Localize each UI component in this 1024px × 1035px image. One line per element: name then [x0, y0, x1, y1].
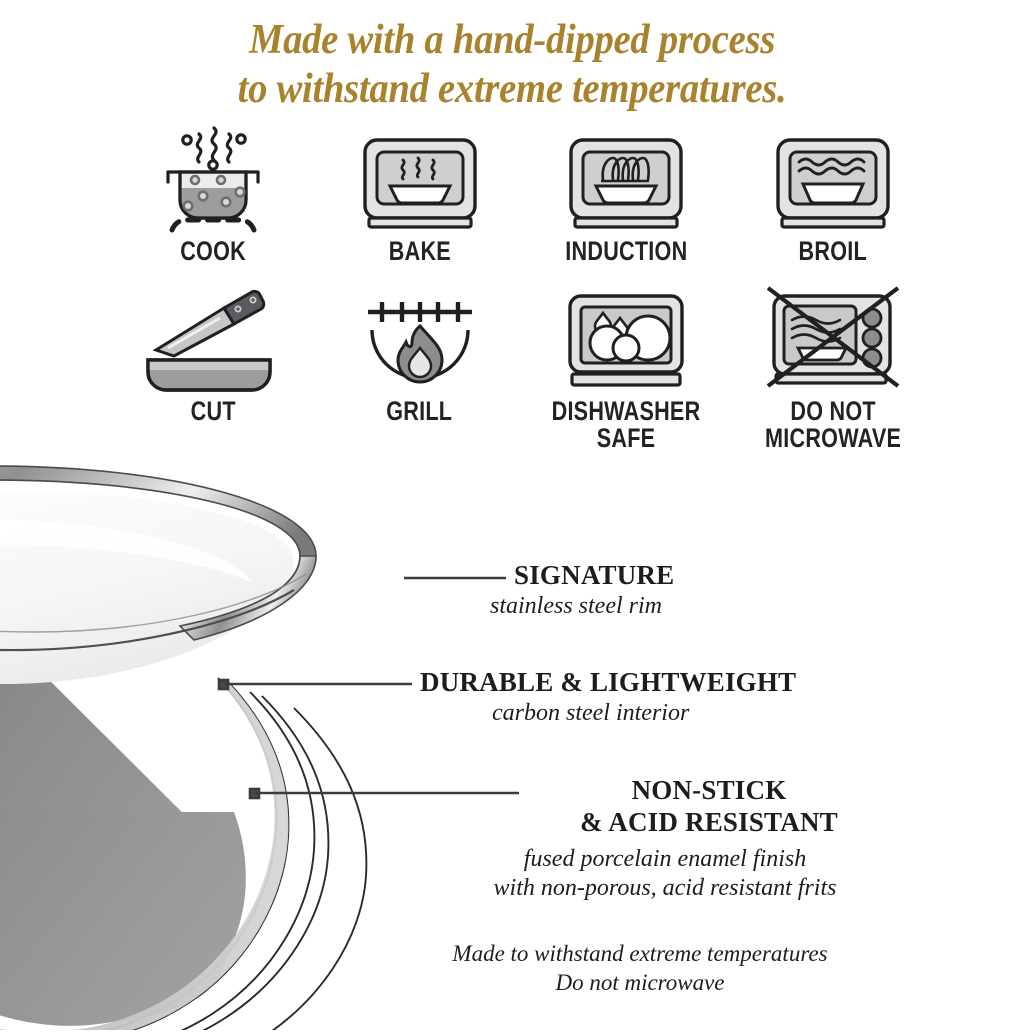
- footnote-line-2: Do not microwave: [360, 969, 920, 998]
- feature-label-cook: COOK: [180, 238, 246, 264]
- feature-broil: BROIL: [738, 126, 928, 264]
- feature-label-induction: INDUCTION: [565, 238, 687, 264]
- callout-signature-subtitle: stainless steel rim: [452, 592, 812, 621]
- feature-label-bake: BAKE: [389, 238, 451, 264]
- oven-induction-coil-icon: [559, 126, 693, 234]
- headline-line-2: to withstand extreme temperatures.: [41, 65, 983, 114]
- callout-nonstick-title-line-1: NON-STICK: [632, 775, 787, 805]
- feature-bake: BAKE: [325, 126, 515, 264]
- callout-durable-subtitle: carbon steel interior: [400, 699, 870, 728]
- feature-icon-grid: COOK BA: [118, 126, 928, 451]
- callout-signature-title: SIGNATURE: [452, 560, 812, 592]
- feature-label-broil: BROIL: [799, 238, 867, 264]
- oven-broil-icon: [766, 126, 900, 234]
- pan-body-group: [0, 466, 366, 1030]
- callout-signature: SIGNATURE stainless steel rim: [452, 560, 812, 621]
- microwave-crossed-out-icon: [758, 286, 908, 394]
- feature-cut: CUT: [118, 286, 308, 424]
- footnote: Made to withstand extreme temperatures D…: [360, 940, 920, 998]
- callout-nonstick-subtitle-line-1: fused porcelain enamel finish: [430, 845, 900, 874]
- pot-with-steam-icon: [143, 126, 283, 234]
- footnote-line-1: Made to withstand extreme temperatures: [360, 940, 920, 969]
- oven-bake-icon: [353, 126, 487, 234]
- icon-row-1: COOK BA: [118, 126, 928, 264]
- knife-and-pan-icon: [138, 286, 288, 394]
- feature-grill: GRILL: [325, 286, 515, 424]
- feature-label-cut: CUT: [190, 398, 235, 424]
- infographic-canvas: Made with a hand-dipped process to withs…: [0, 0, 1024, 1024]
- feature-induction: INDUCTION: [531, 126, 721, 264]
- feature-label-do-not-microwave: DO NOT MICROWAVE: [765, 398, 901, 451]
- dishwasher-icon: [556, 286, 696, 394]
- callout-nonstick: NON-STICK & ACID RESISTANT fused porcela…: [400, 775, 900, 903]
- feature-cook: COOK: [118, 126, 308, 264]
- feature-label-dishwasher: DISHWASHER SAFE: [552, 398, 701, 451]
- headline-line-1: Made with a hand-dipped process: [41, 16, 983, 65]
- icon-row-2: CUT GRILL: [118, 286, 928, 451]
- callout-nonstick-title-line-2: & ACID RESISTANT: [518, 807, 900, 839]
- feature-dishwasher: DISHWASHER SAFE: [531, 286, 721, 451]
- callout-durable: DURABLE & LIGHTWEIGHT carbon steel inter…: [400, 667, 870, 728]
- grill-grate-flame-icon: [356, 286, 484, 394]
- feature-do-not-microwave: DO NOT MICROWAVE: [738, 286, 928, 451]
- feature-label-grill: GRILL: [387, 398, 453, 424]
- callout-nonstick-subtitle-line-2: with non-porous, acid resistant frits: [430, 874, 900, 903]
- page-title: Made with a hand-dipped process to withs…: [41, 16, 983, 113]
- callout-durable-title: DURABLE & LIGHTWEIGHT: [400, 667, 870, 699]
